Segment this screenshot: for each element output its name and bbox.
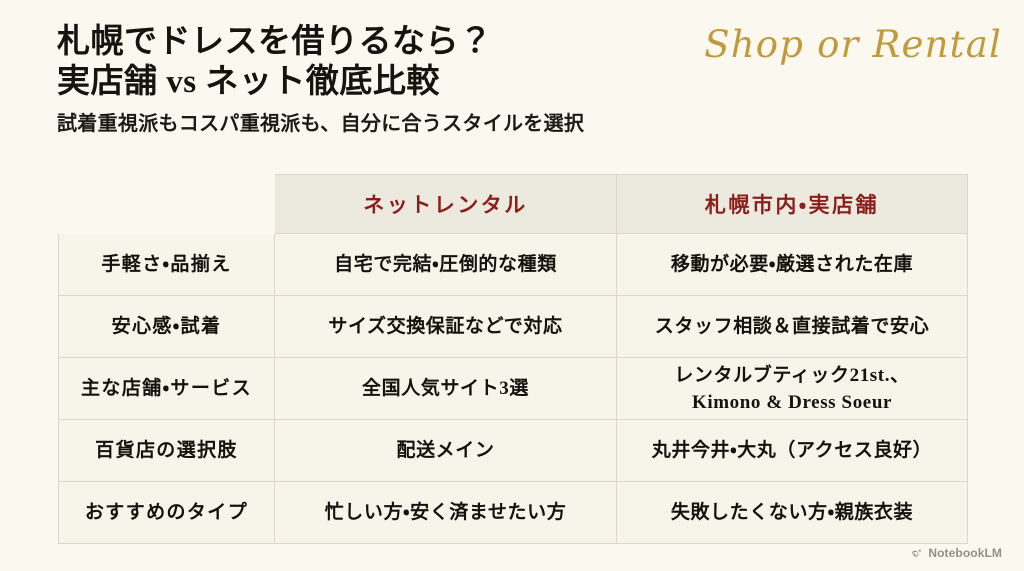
column-header-net-rental: ネットレンタル [275,175,617,234]
table-row: 百貨店の選択肢 配送メイン 丸井今井・大丸（アクセス良好） [59,420,968,482]
table-row: 安心感・試着 サイズ交換保証などで対応 スタッフ相談＆直接試着で安心 [59,296,968,358]
cell-rental-department-store-options: 配送メイン [275,420,617,482]
table-header: ネットレンタル 札幌市内・実店舗 [59,175,968,234]
cell-shop-department-store-options: 丸井今井・大丸（アクセス良好） [617,420,968,482]
row-label-recommended-type: おすすめのタイプ [59,482,275,544]
watermark: NotebookLM [910,546,1002,560]
table-row: 手軽さ・品揃え 自宅で完結・圧倒的な種類 移動が必要・厳選された在庫 [59,234,968,296]
cell-shop-main-shops-services: レンタルブティック21st.、 Kimono & Dress Soeur [617,358,968,420]
cell-rental-assurance-fitting: サイズ交換保証などで対応 [275,296,617,358]
table-body: 手軽さ・品揃え 自宅で完結・圧倒的な種類 移動が必要・厳選された在庫 安心感・試… [59,234,968,544]
brand-script-logo: Shop or Rental [704,22,1002,68]
row-label-main-shops-services: 主な店舗・サービス [59,358,275,420]
watermark-label: NotebookLM [928,546,1002,560]
cell-rental-recommended-type: 忙しい方・安く済ませたい方 [275,482,617,544]
cell-rental-main-shops-services: 全国人気サイト3選 [275,358,617,420]
cell-rental-ease-selection: 自宅で完結・圧倒的な種類 [275,234,617,296]
header-block: 札幌でドレスを借りるなら？ 実店舗 vs ネット徹底比較 試着重視派もコスパ重視… [57,22,717,137]
page-title-line-1: 札幌でドレスを借りるなら？ [57,22,717,62]
table-row: おすすめのタイプ 忙しい方・安く済ませたい方 失敗したくない方・親族衣装 [59,482,968,544]
comparison-table: ネットレンタル 札幌市内・実店舗 手軽さ・品揃え 自宅で完結・圧倒的な種類 移動… [58,174,968,544]
cell-shop-main-shops-line-2: Kimono & Dress Soeur [627,389,957,416]
row-label-ease-selection: 手軽さ・品揃え [59,234,275,296]
slide-root: 札幌でドレスを借りるなら？ 実店舗 vs ネット徹底比較 試着重視派もコスパ重視… [0,0,1024,571]
cell-shop-recommended-type: 失敗したくない方・親族衣装 [617,482,968,544]
row-label-assurance-fitting: 安心感・試着 [59,296,275,358]
page-subtitle: 試着重視派もコスパ重視派も、自分に合うスタイルを選択 [57,111,717,137]
table-header-row: ネットレンタル 札幌市内・実店舗 [59,175,968,234]
column-header-sapporo-shop: 札幌市内・実店舗 [617,175,968,234]
cell-shop-main-shops-line-1: レンタルブティック21st.、 [627,362,957,389]
page-title-line-2: 実店舗 vs ネット徹底比較 [57,62,717,102]
notebooklm-icon [910,547,923,560]
cell-shop-ease-selection: 移動が必要・厳選された在庫 [617,234,968,296]
row-label-department-store-options: 百貨店の選択肢 [59,420,275,482]
cell-shop-assurance-fitting: スタッフ相談＆直接試着で安心 [617,296,968,358]
table-corner-blank [59,175,275,234]
table-row: 主な店舗・サービス 全国人気サイト3選 レンタルブティック21st.、 Kimo… [59,358,968,420]
